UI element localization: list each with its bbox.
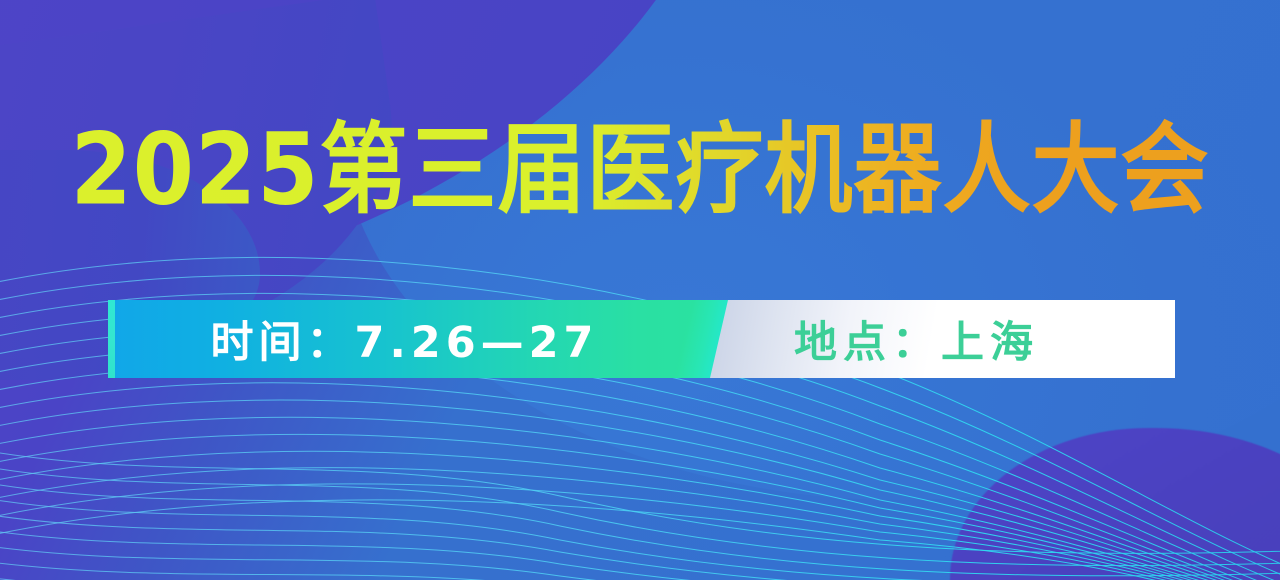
event-info-bar: 时间：7.26—27 地点：上海	[108, 300, 1175, 378]
page-title: 2025第三届医疗机器人大会	[71, 114, 1210, 226]
event-banner: 2025第三届医疗机器人大会 时间：7.26—27 地点：上海	[0, 0, 1280, 580]
info-bar-accent-stripe	[108, 300, 115, 378]
event-place-label: 地点：上海	[794, 308, 1039, 370]
background-decoration	[0, 0, 1280, 580]
title-container: 2025第三届医疗机器人大会	[0, 120, 1280, 220]
event-time-section: 时间：7.26—27	[115, 300, 710, 378]
event-place-section: 地点：上海	[710, 300, 1175, 378]
event-time-label: 时间：7.26—27	[211, 308, 599, 370]
